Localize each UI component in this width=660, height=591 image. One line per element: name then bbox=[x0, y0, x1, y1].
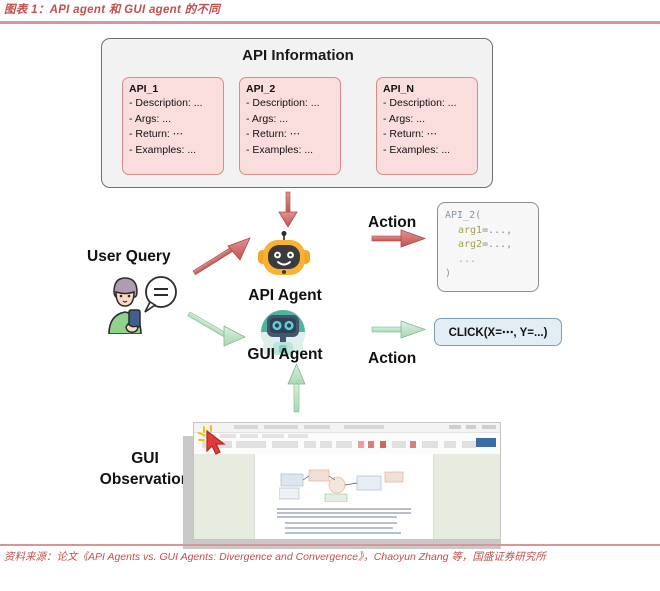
api-card: API_2 - Description: ... - Args: ... - R… bbox=[239, 77, 341, 175]
code-fn: ) bbox=[445, 268, 451, 279]
source-note: 资料来源：论文《API Agents vs. GUI Agents: Diver… bbox=[4, 550, 656, 565]
api-card-line: - Examples: ... bbox=[246, 143, 340, 159]
api-card-line: - Return: ⋯ bbox=[246, 127, 340, 143]
person-with-phone-icon bbox=[95, 272, 187, 334]
code-line: arg2=..., bbox=[445, 238, 538, 253]
footer-divider bbox=[0, 544, 660, 546]
api-card-line: - Description: ... bbox=[383, 96, 477, 112]
arrow-observation-to-gui-agent bbox=[288, 364, 305, 412]
code-op: =..., bbox=[482, 225, 512, 236]
api-information-title: API Information bbox=[102, 47, 494, 64]
click-action-block: CLICK(X=⋯, Y=...) bbox=[434, 318, 562, 346]
api-card-title: API_N bbox=[383, 83, 477, 95]
arrow-api-info-to-api-agent bbox=[279, 192, 297, 227]
arrow-user-to-api-agent bbox=[193, 238, 250, 275]
word-document-screenshot bbox=[193, 422, 501, 540]
code-line: ... bbox=[445, 253, 538, 268]
gui-observation-line1: GUI bbox=[131, 450, 159, 467]
api-card-line: - Description: ... bbox=[246, 96, 340, 112]
code-ellipsis: ... bbox=[458, 254, 476, 265]
screenshot-titlebar bbox=[194, 423, 500, 433]
arrow-api-agent-to-code bbox=[372, 230, 425, 247]
api-information-panel: API Information API_1 - Description: ...… bbox=[101, 38, 493, 188]
api-card-line: - Return: ⋯ bbox=[383, 127, 477, 143]
red-mouse-cursor-icon bbox=[198, 425, 232, 455]
api-agent-label: API Agent bbox=[230, 287, 340, 305]
code-op: =..., bbox=[482, 239, 512, 250]
api-card-line: - Examples: ... bbox=[129, 143, 223, 159]
robot-head-yellow-icon bbox=[257, 231, 311, 283]
api-card-line: - Args: ... bbox=[383, 112, 477, 128]
api-card: API_1 - Description: ... - Args: ... - R… bbox=[122, 77, 224, 175]
screenshot-ribbon bbox=[194, 433, 500, 455]
api-card-line: - Examples: ... bbox=[383, 143, 477, 159]
api-card-line: - Args: ... bbox=[246, 112, 340, 128]
code-arg: arg2 bbox=[458, 239, 482, 250]
api-card-title: API_2 bbox=[246, 83, 340, 95]
click-action-text: CLICK(X=⋯, Y=...) bbox=[449, 325, 548, 339]
screenshot-document-body bbox=[194, 454, 500, 540]
code-arg: arg1 bbox=[458, 225, 482, 236]
user-query-label: User Query bbox=[87, 248, 171, 266]
action-label-api: Action bbox=[368, 214, 416, 232]
diagram-canvas: API Information API_1 - Description: ...… bbox=[0, 24, 660, 542]
api-card-line: - Args: ... bbox=[129, 112, 223, 128]
arrow-gui-agent-to-click bbox=[372, 321, 425, 338]
arrow-user-to-gui-agent bbox=[188, 312, 245, 346]
code-line: API_2( bbox=[445, 209, 538, 224]
code-line: arg1=..., bbox=[445, 224, 538, 239]
api-card-line: - Return: ⋯ bbox=[129, 127, 223, 143]
code-fn: API_2( bbox=[445, 210, 481, 221]
gui-agent-label: GUI Agent bbox=[228, 346, 342, 364]
gui-observation-line2: Observation bbox=[100, 471, 190, 488]
api-call-code-block: API_2( arg1=..., arg2=..., ... ) bbox=[437, 202, 539, 292]
screenshot-page bbox=[254, 454, 434, 540]
screenshot-inner-figure bbox=[279, 468, 409, 502]
api-card: API_N - Description: ... - Args: ... - R… bbox=[376, 77, 478, 175]
api-card-title: API_1 bbox=[129, 83, 223, 95]
api-card-line: - Description: ... bbox=[129, 96, 223, 112]
action-label-gui: Action bbox=[368, 350, 416, 368]
page-title: 图表 1：API agent 和 GUI agent 的不同 bbox=[4, 1, 220, 17]
code-line: ) bbox=[445, 267, 538, 282]
